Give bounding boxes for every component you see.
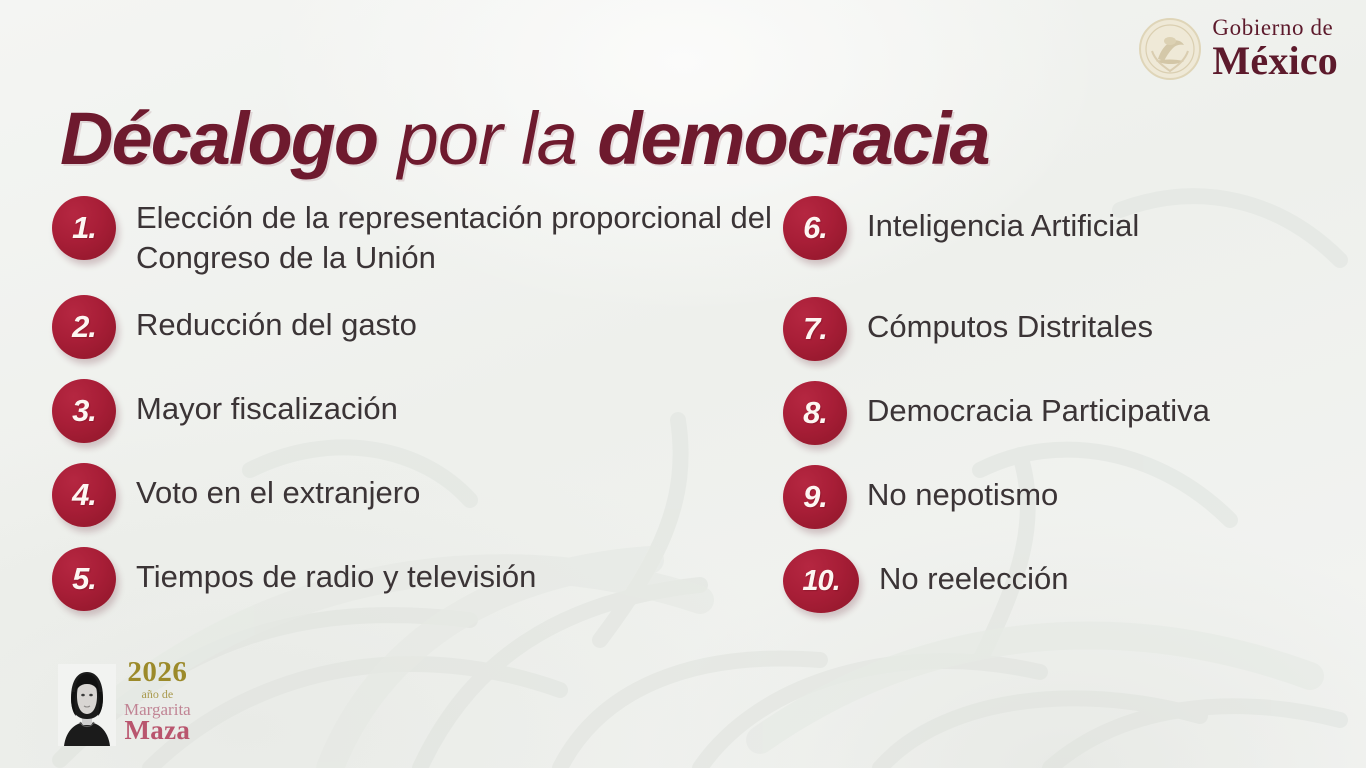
item-number-badge: 7.	[783, 297, 847, 361]
item-number-badge: 1.	[52, 196, 116, 260]
list-item: 6. Inteligencia Artificial	[783, 196, 1343, 260]
list-item: 5. Tiempos de radio y televisión	[52, 547, 772, 611]
list-item: 10. No reelección	[783, 549, 1343, 613]
gobierno-de-mexico-logo: Gobierno de México	[1138, 16, 1338, 81]
item-number-badge: 6.	[783, 196, 847, 260]
item-label: Democracia Participativa	[847, 381, 1210, 431]
page-title: Décalogo por la democracia	[60, 102, 989, 176]
item-label: Cómputos Distritales	[847, 297, 1153, 347]
list-item: 7. Cómputos Distritales	[783, 297, 1343, 361]
mexican-coat-of-arms-seal-icon	[1138, 17, 1202, 81]
item-label: Tiempos de radio y televisión	[116, 547, 536, 597]
item-number-badge: 4.	[52, 463, 116, 527]
title-part-decalogo: Décalogo	[60, 97, 377, 180]
list-column-left: 1. Elección de la representación proporc…	[52, 196, 772, 631]
list-item: 2. Reducción del gasto	[52, 295, 772, 359]
item-number-badge: 9.	[783, 465, 847, 529]
list-item: 1. Elección de la representación proporc…	[52, 196, 772, 277]
title-part-por-la: por la	[398, 97, 577, 180]
item-label: Elección de la representación proporcion…	[116, 196, 772, 277]
item-number-badge: 3.	[52, 379, 116, 443]
logo-line-gobierno: Gobierno de	[1212, 16, 1338, 39]
list-column-right: 6. Inteligencia Artificial 7. Cómputos D…	[783, 196, 1343, 633]
item-label: No reelección	[859, 549, 1069, 599]
item-label: Inteligencia Artificial	[847, 196, 1139, 246]
presentation-slide: Gobierno de México Décalogo por la democ…	[0, 0, 1366, 768]
badge-surname: Maza	[125, 717, 191, 744]
badge-year: 2026	[127, 658, 187, 687]
list-item: 4. Voto en el extranjero	[52, 463, 772, 527]
list-item: 8. Democracia Participativa	[783, 381, 1343, 445]
item-label: No nepotismo	[847, 465, 1058, 515]
margarita-maza-badge: 2026 año de Margarita Maza	[58, 658, 191, 746]
item-number-badge: 2.	[52, 295, 116, 359]
item-label: Reducción del gasto	[116, 295, 417, 345]
list-item: 9. No nepotismo	[783, 465, 1343, 529]
item-label: Mayor fiscalización	[116, 379, 398, 429]
item-number-badge: 5.	[52, 547, 116, 611]
title-part-democracia: democracia	[597, 97, 988, 180]
margarita-maza-wordmark: 2026 año de Margarita Maza	[124, 658, 191, 746]
list-item: 3. Mayor fiscalización	[52, 379, 772, 443]
item-label: Voto en el extranjero	[116, 463, 420, 513]
logo-line-mexico: México	[1212, 41, 1338, 81]
gobierno-de-mexico-wordmark: Gobierno de México	[1212, 16, 1338, 81]
badge-ano-de: año de	[142, 688, 174, 700]
item-number-badge: 8.	[783, 381, 847, 445]
item-number-badge: 10.	[783, 549, 859, 613]
margarita-maza-portrait-icon	[58, 664, 116, 746]
